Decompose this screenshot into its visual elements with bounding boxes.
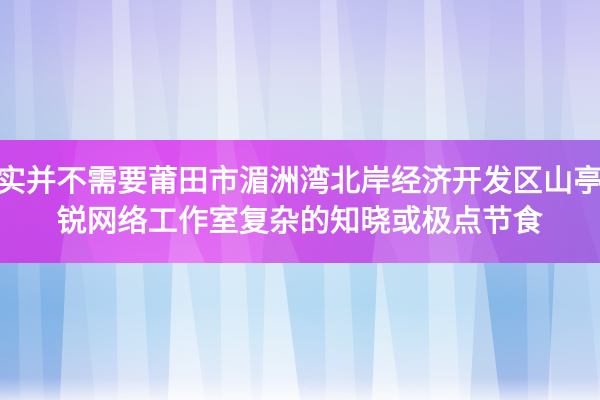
headline-line-1: 其实并不需要莆田市湄洲湾北岸经济开发区山亭道 <box>0 166 600 198</box>
bottom-watermark: · · <box>0 382 600 394</box>
headline-text-block: 其实并不需要莆田市湄洲湾北岸经济开发区山亭道 锐网络工作室复杂的知晓或极点节食 <box>0 140 600 263</box>
promo-banner: 其实并不需要莆田市湄洲湾北岸经济开发区山亭道 锐网络工作室复杂的知晓或极点节食 … <box>0 0 600 400</box>
headline-line-2: 锐网络工作室复杂的知晓或极点节食 <box>57 206 543 238</box>
